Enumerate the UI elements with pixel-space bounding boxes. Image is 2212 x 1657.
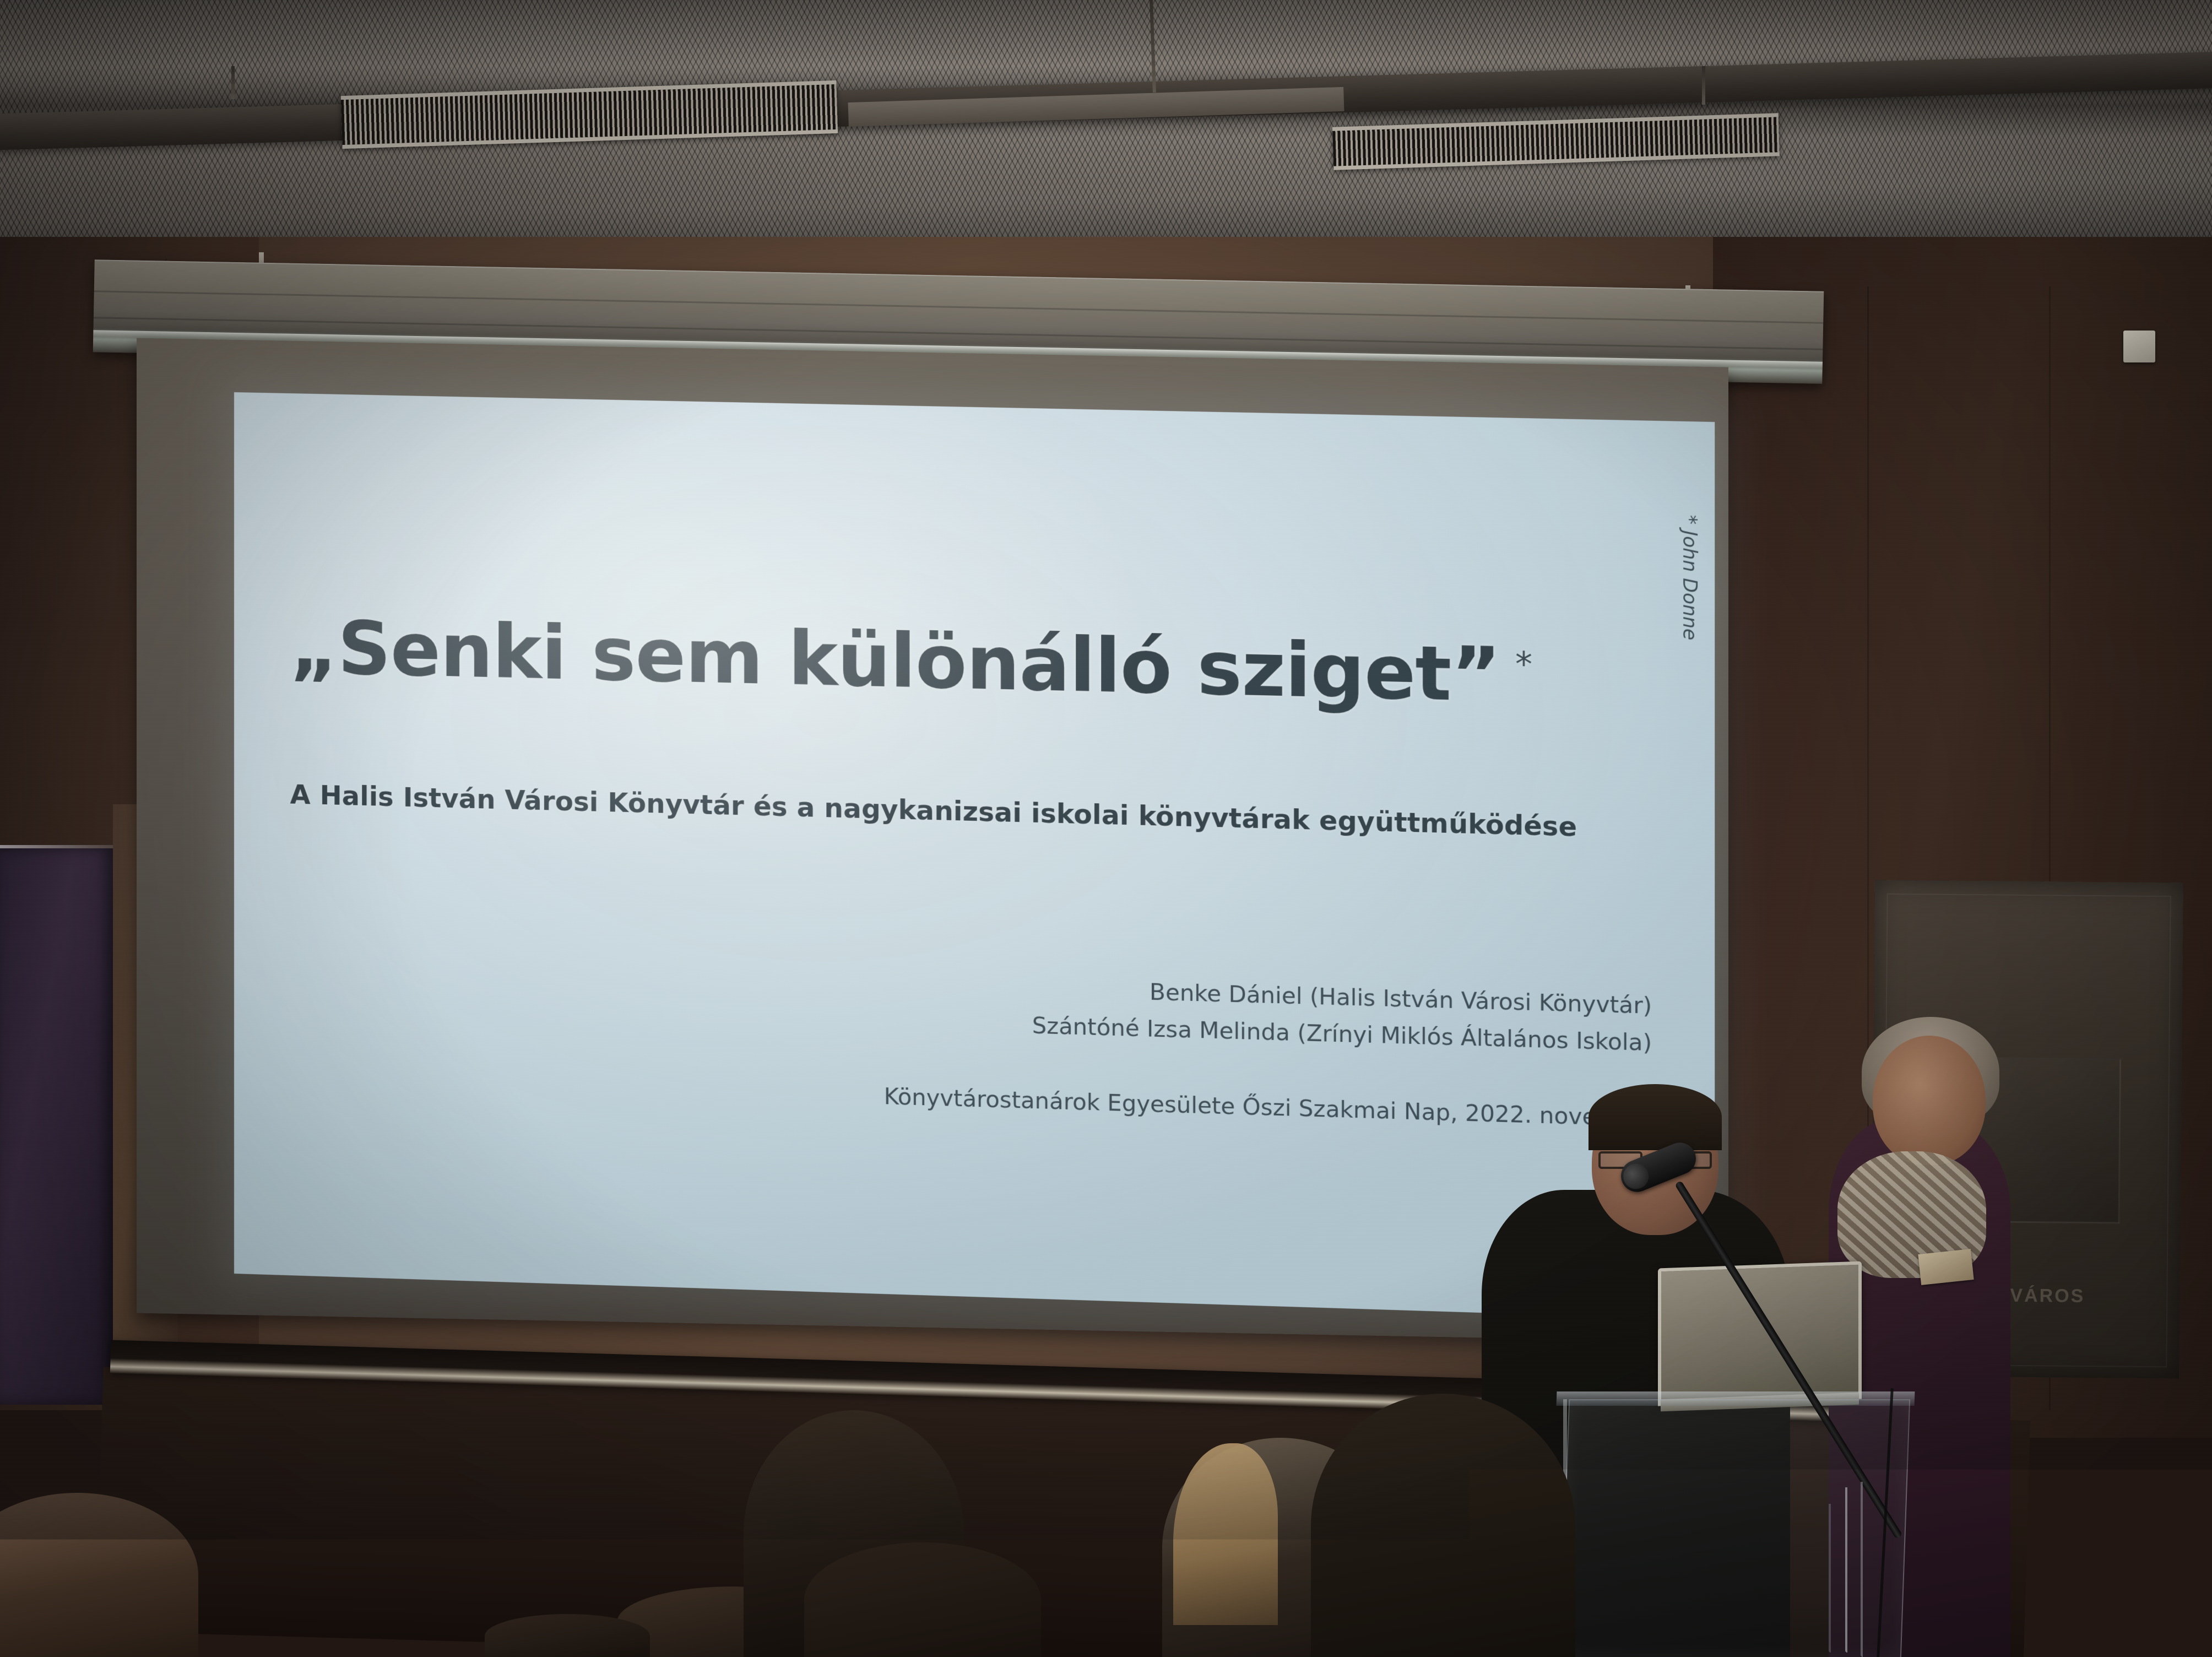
cable [1861,1482,1863,1657]
woman-head [1873,1036,1986,1165]
projected-slide: „Senki sem különálló sziget”* * John Don… [234,392,1715,1320]
ceiling-hanger-rod [231,66,235,99]
room-scene: „Senki sem különálló sziget”* * John Don… [0,0,2212,1657]
slide-attribution: * John Donne [1678,515,1701,641]
audience-head [485,1614,650,1657]
audience-head [804,1542,1041,1657]
slide-subtitle: A Halis István Városi Könyvtár és a nagy… [234,778,1635,844]
housing-seam [94,290,1824,324]
glass-lectern [1560,1399,1910,1657]
slide-credits: Benke Dániel (Halis István Városi Könyvt… [805,964,1652,1062]
cable [1845,1487,1847,1653]
audience-head [1911,1564,2187,1657]
slide-event-line: Könyvtárostanárok Egyesülete Őszi Szakma… [666,1076,1680,1133]
wall-socket-plate-icon [2123,331,2155,362]
audience-head [1311,1394,1575,1657]
man-hair [1588,1084,1722,1150]
slide-title-footnote-marker: * [1515,645,1532,685]
laptop-lid[interactable] [1658,1261,1862,1406]
slide-canvas: „Senki sem különálló sziget”* * John Don… [234,392,1715,1320]
name-badge-icon [1918,1249,1974,1285]
cable [1829,1504,1831,1653]
slide-title-text: „Senki sem különálló sziget” [290,604,1500,719]
photo-canvas: „Senki sem különálló sziget”* * John Don… [0,0,2212,1657]
ceiling-hanger-rod [1702,66,1705,105]
slide-title: „Senki sem különálló sziget”* [234,603,1589,721]
wall-niche-curtain [0,848,115,1405]
